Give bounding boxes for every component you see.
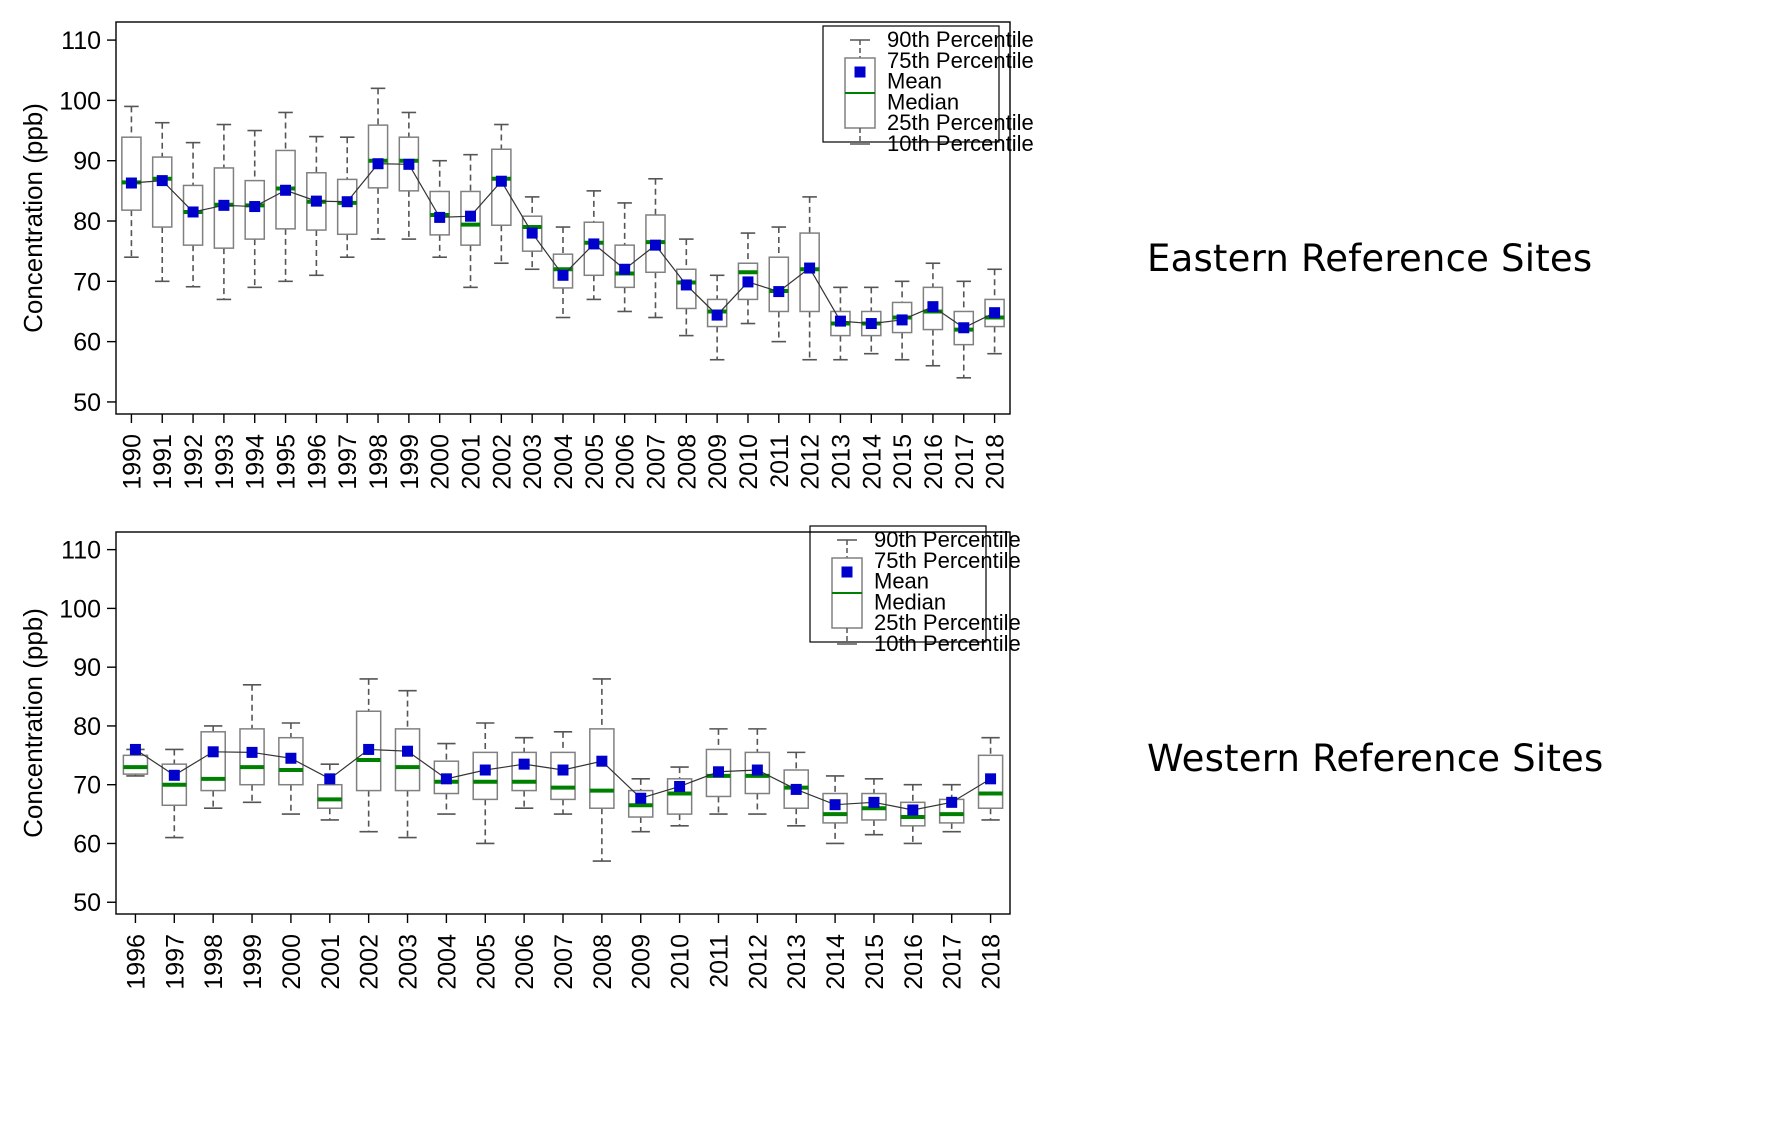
- x-axis-tick-label: 2012: [744, 934, 772, 990]
- mean-marker: [342, 196, 353, 207]
- x-axis-tick-label: 2010: [735, 434, 763, 490]
- boxplot-group: [923, 263, 942, 366]
- boxplot-group: [473, 723, 497, 843]
- mean-marker: [247, 747, 258, 758]
- mean-marker: [188, 206, 199, 217]
- x-axis-tick-label: 2012: [797, 434, 825, 490]
- boxplot-group: [276, 112, 295, 281]
- legend-mean-marker: [842, 567, 853, 578]
- mean-marker: [324, 773, 335, 784]
- mean-marker: [927, 301, 938, 312]
- x-axis-tick-label: 1998: [365, 434, 393, 490]
- mean-marker: [527, 228, 538, 239]
- x-axis-tick-label: 2005: [581, 434, 609, 490]
- boxplot-group: [214, 125, 233, 300]
- mean-marker: [946, 797, 957, 808]
- mean-marker: [441, 773, 452, 784]
- box-iqr: [512, 752, 536, 790]
- mean-marker: [674, 781, 685, 792]
- mean-marker: [558, 270, 569, 281]
- boxplot-group: [629, 779, 653, 832]
- legend-label-p10: 10th Percentile: [874, 631, 1021, 656]
- mean-marker: [465, 211, 476, 222]
- mean-marker: [373, 158, 384, 169]
- mean-marker: [681, 279, 692, 290]
- mean-marker: [496, 176, 507, 187]
- y-axis-tick-label: 80: [73, 713, 101, 741]
- x-axis-tick-label: 2005: [472, 934, 500, 990]
- x-axis-tick-label: 1992: [180, 434, 208, 490]
- x-axis-tick-label: 2007: [550, 934, 578, 990]
- x-axis-tick-label: 1996: [122, 934, 150, 990]
- y-axis-tick-label: 50: [73, 889, 101, 917]
- x-axis-tick-label: 2018: [978, 934, 1006, 990]
- mean-marker: [804, 263, 815, 274]
- mean-marker: [650, 240, 661, 251]
- boxplot-group: [940, 785, 964, 832]
- x-axis-tick-label: 2013: [827, 434, 855, 490]
- x-axis-tick-label: 2013: [783, 934, 811, 990]
- mean-marker: [480, 765, 491, 776]
- y-axis-tick-label: 80: [73, 208, 101, 236]
- x-axis-tick-label: 2000: [278, 934, 306, 990]
- y-axis-tick-label: 50: [73, 389, 101, 417]
- x-axis-tick-label: 2014: [822, 934, 850, 990]
- y-axis-tick-label: 100: [59, 87, 101, 115]
- x-axis-tick-label: 2015: [889, 434, 917, 490]
- boxplot-group: [769, 227, 788, 342]
- x-axis-tick-label: 2008: [673, 434, 701, 490]
- x-axis-tick-label: 2010: [667, 934, 695, 990]
- x-axis-tick-label: 1997: [334, 434, 362, 490]
- mean-marker: [635, 793, 646, 804]
- x-axis-tick-label: 1996: [303, 434, 331, 490]
- mean-marker: [897, 314, 908, 325]
- x-axis-tick-label: 2017: [939, 934, 967, 990]
- mean-marker: [791, 784, 802, 795]
- y-axis-title: Concentration (ppb): [18, 608, 48, 838]
- box-iqr: [395, 729, 419, 791]
- mean-marker: [311, 196, 322, 207]
- chart-legend: 90th Percentile75th PercentileMeanMedian…: [810, 526, 1021, 656]
- y-axis-tick-label: 60: [73, 329, 101, 357]
- x-axis-tick-label: 1990: [118, 434, 146, 490]
- x-axis-tick-label: 2011: [766, 434, 794, 488]
- boxplot-group: [800, 197, 819, 360]
- boxplot-group: [512, 738, 536, 809]
- x-axis-tick-label: 2011: [705, 934, 733, 988]
- western-sites-label: Western Reference Sites: [1147, 737, 1604, 780]
- x-axis-tick-label: 1997: [161, 934, 189, 990]
- boxplot-group: [201, 726, 225, 808]
- box-iqr: [123, 755, 147, 774]
- x-axis-tick-label: 2004: [433, 934, 461, 990]
- mean-marker: [835, 316, 846, 327]
- boxplot-group: [615, 203, 634, 312]
- x-axis-tick-label: 1999: [396, 434, 424, 490]
- mean-marker: [249, 201, 260, 212]
- mean-marker: [830, 799, 841, 810]
- eastern-reference-chart-panel: 5060708090100110Concentration (ppb)19901…: [0, 0, 1130, 540]
- x-axis-tick-label: 2000: [427, 434, 455, 490]
- mean-marker: [866, 318, 877, 329]
- mean-marker: [157, 175, 168, 186]
- x-axis-tick-label: 2007: [642, 434, 670, 490]
- x-axis-tick-label: 2004: [550, 434, 578, 490]
- y-axis-title: Concentration (ppb): [18, 103, 48, 333]
- mean-marker: [752, 765, 763, 776]
- mean-marker: [218, 200, 229, 211]
- legend-label-p10: 10th Percentile: [887, 131, 1034, 156]
- boxplot-group: [240, 685, 264, 803]
- mean-marker: [989, 307, 1000, 318]
- mean-marker: [169, 770, 180, 781]
- boxplot-group: [279, 723, 303, 814]
- legend-mean-marker: [855, 67, 866, 78]
- mean-marker: [126, 178, 137, 189]
- mean-marker: [619, 264, 630, 275]
- mean-marker: [907, 804, 918, 815]
- x-axis-tick-label: 2014: [858, 434, 886, 490]
- box-iqr: [368, 125, 387, 188]
- boxplot-group: [492, 125, 511, 264]
- x-axis-tick-label: 2002: [356, 934, 384, 990]
- x-axis-tick-label: 2001: [458, 434, 486, 490]
- y-axis-tick-label: 70: [73, 772, 101, 800]
- x-axis-tick-label: 1995: [273, 434, 301, 490]
- x-axis-tick-label: 2015: [861, 934, 889, 990]
- mean-marker: [402, 746, 413, 757]
- box-iqr: [769, 257, 788, 311]
- x-axis-tick-label: 2009: [628, 934, 656, 990]
- x-axis-tick-label: 2016: [900, 934, 928, 990]
- box-iqr: [122, 137, 141, 210]
- box-iqr: [153, 157, 172, 227]
- eastern-boxplot-svg: 5060708090100110Concentration (ppb)19901…: [0, 0, 1130, 540]
- x-axis-tick-label: 2009: [704, 434, 732, 490]
- mean-marker: [958, 322, 969, 333]
- y-axis-tick-label: 70: [73, 268, 101, 296]
- mean-marker: [280, 185, 291, 196]
- boxplot-group: [153, 123, 172, 282]
- mean-marker: [596, 756, 607, 767]
- boxplot-group: [395, 691, 419, 838]
- x-axis-tick-label: 1999: [239, 934, 267, 990]
- mean-marker: [588, 238, 599, 249]
- x-axis-tick-label: 2016: [920, 434, 948, 490]
- western-reference-chart-panel: 5060708090100110Concentration (ppb)19961…: [0, 510, 1130, 1120]
- box-iqr: [201, 732, 225, 791]
- mean-marker: [712, 310, 723, 321]
- mean-marker: [363, 744, 374, 755]
- box-iqr: [318, 785, 342, 809]
- x-axis-tick-label: 2006: [511, 934, 539, 990]
- x-axis-tick-label: 2003: [395, 934, 423, 990]
- x-axis-tick-label: 2008: [589, 934, 617, 990]
- mean-marker: [985, 773, 996, 784]
- boxplot-group: [430, 161, 449, 257]
- chart-legend: 90th Percentile75th PercentileMeanMedian…: [823, 26, 1034, 156]
- y-axis-tick-label: 110: [61, 27, 101, 55]
- x-axis-tick-label: 2018: [982, 434, 1010, 490]
- mean-marker: [208, 746, 219, 757]
- mean-marker: [285, 753, 296, 764]
- x-axis-tick-label: 2003: [519, 434, 547, 490]
- boxplot-series: [122, 88, 1004, 377]
- mean-marker: [130, 744, 141, 755]
- mean-marker: [403, 159, 414, 170]
- box-iqr: [551, 752, 575, 799]
- x-axis-tick-label: 1994: [242, 434, 270, 490]
- mean-marker: [742, 276, 753, 287]
- x-axis-tick-label: 2017: [951, 434, 979, 490]
- mean-marker: [558, 765, 569, 776]
- eastern-sites-label: Eastern Reference Sites: [1147, 237, 1592, 280]
- x-axis-tick-label: 2006: [612, 434, 640, 490]
- mean-marker: [519, 759, 530, 770]
- y-axis-tick-label: 90: [73, 148, 101, 176]
- x-axis-tick-label: 1993: [211, 434, 239, 490]
- y-axis-tick-label: 90: [73, 654, 101, 682]
- x-axis-tick-label: 2001: [317, 934, 345, 990]
- x-axis-tick-label: 1998: [200, 934, 228, 990]
- boxplot-group: [668, 767, 692, 826]
- y-axis-tick-label: 100: [59, 595, 101, 623]
- box-iqr: [492, 149, 511, 225]
- x-axis-tick-label: 1991: [149, 434, 177, 490]
- mean-marker: [713, 766, 724, 777]
- y-axis-tick-label: 60: [73, 830, 101, 858]
- mean-marker: [773, 286, 784, 297]
- mean-marker: [868, 797, 879, 808]
- x-axis-tick-label: 2002: [488, 434, 516, 490]
- boxplot-group: [162, 749, 186, 837]
- western-boxplot-svg: 5060708090100110Concentration (ppb)19961…: [0, 510, 1130, 1120]
- box-iqr: [473, 752, 497, 799]
- mean-marker: [434, 212, 445, 223]
- y-axis-tick-label: 110: [61, 537, 101, 565]
